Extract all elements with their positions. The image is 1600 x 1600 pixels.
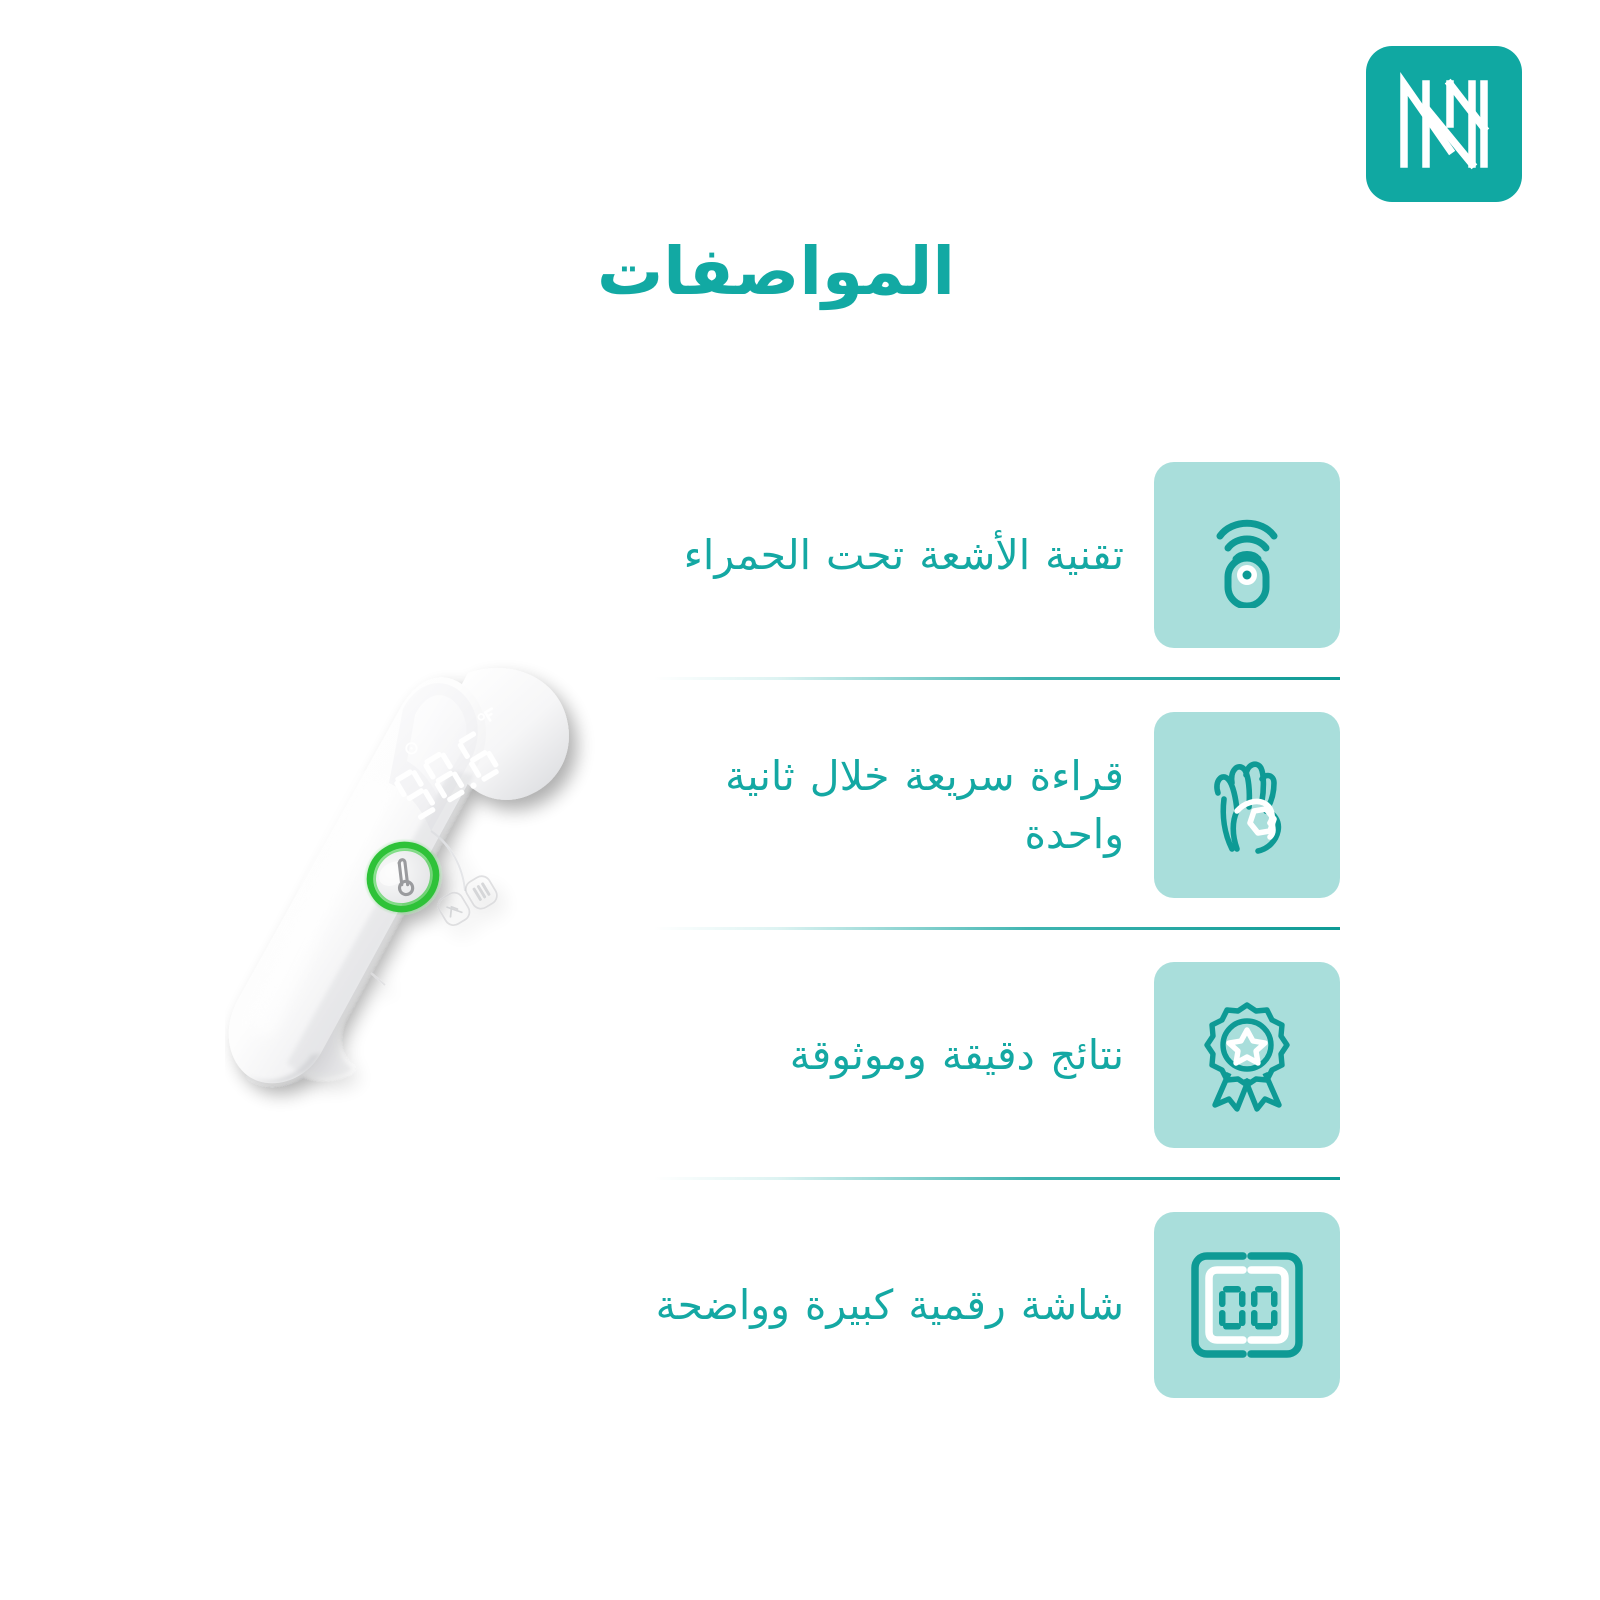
- feature-icon-tile: [1154, 462, 1340, 648]
- page-title: المواصفات: [0, 236, 955, 309]
- feature-row: تقنية الأشعة تحت الحمراء: [620, 430, 1340, 680]
- feature-row: قراءة سريعة خلال ثانية واحدة: [620, 680, 1340, 930]
- digital-display-icon: [1187, 1248, 1307, 1362]
- feature-label: تقنية الأشعة تحت الحمراء: [620, 526, 1154, 584]
- brand-logo: [1366, 46, 1522, 202]
- nn-monogram-logo-icon: [1392, 72, 1496, 176]
- specifications-feature-list: تقنية الأشعة تحت الحمراء: [620, 430, 1340, 1430]
- infrared-sensor-icon: [1194, 502, 1300, 608]
- feature-icon-tile: [1154, 962, 1340, 1148]
- feature-label: قراءة سريعة خلال ثانية واحدة: [620, 747, 1154, 863]
- product-thermometer-image: [225, 655, 645, 1135]
- feature-label: نتائج دقيقة وموثوقة: [620, 1026, 1154, 1084]
- ok-hand-gesture-icon: [1192, 749, 1302, 861]
- feature-row: نتائج دقيقة وموثوقة: [620, 930, 1340, 1180]
- feature-icon-tile: [1154, 1212, 1340, 1398]
- feature-icon-tile: [1154, 712, 1340, 898]
- award-badge-icon: [1191, 997, 1303, 1113]
- feature-row: شاشة رقمية كبيرة وواضحة: [620, 1180, 1340, 1430]
- feature-label: شاشة رقمية كبيرة وواضحة: [620, 1276, 1154, 1334]
